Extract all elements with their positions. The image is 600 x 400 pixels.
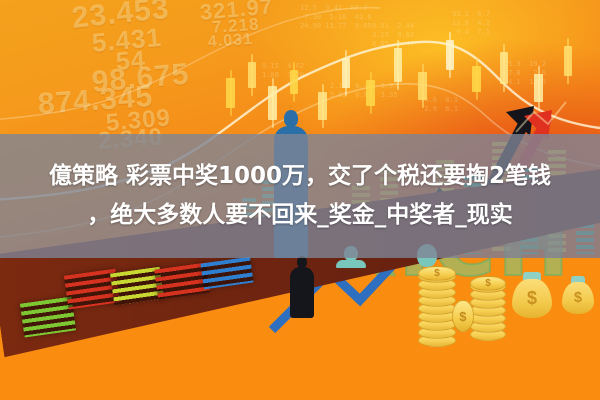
coin-top-face: $ — [470, 276, 506, 291]
single-coin: $ — [452, 300, 474, 332]
money-bag: $ — [512, 272, 552, 318]
money-bag-body: $ — [562, 282, 594, 314]
money-bag-body: $ — [512, 279, 552, 318]
thumbnail-image: 12.5 3.41 88.2 7.30 5.18 41.6 24.90 13.7… — [0, 0, 600, 400]
caption-line-1: 億策略 彩票中奖1000万，交了个税还要掏2笔钱 — [49, 157, 551, 196]
money-bag: $ — [562, 276, 594, 314]
caption-line-2: ，绝大多数人要不回来_奖金_中奖者_现实 — [87, 196, 513, 235]
coin-stack: $ — [418, 270, 454, 344]
caption-text: 億策略 彩票中奖1000万，交了个税还要掏2笔钱 ，绝大多数人要不回来_奖金_中… — [0, 134, 600, 258]
coin-top-face: $ — [418, 266, 456, 281]
coin-stack: $ — [470, 280, 504, 338]
